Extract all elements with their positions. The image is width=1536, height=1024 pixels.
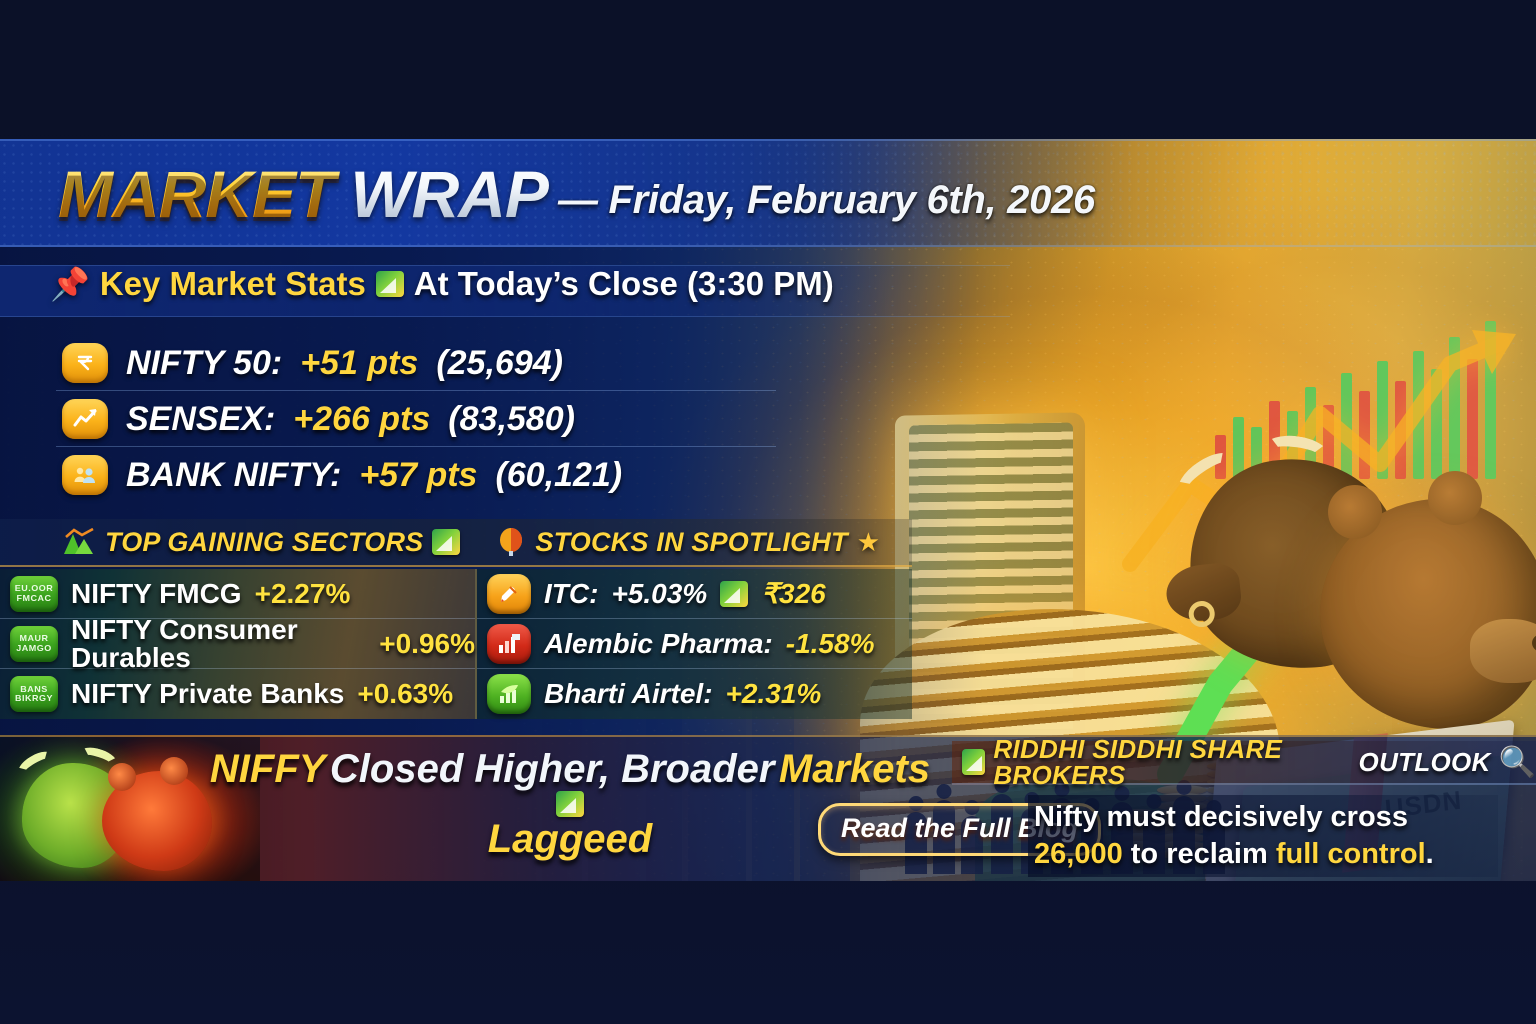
headline-markets: Markets bbox=[779, 747, 930, 791]
sector-change: +0.96% bbox=[379, 630, 475, 658]
outlook-emphasis: full control bbox=[1276, 838, 1426, 870]
balloon-icon bbox=[496, 527, 526, 557]
stat-name: NIFTY 50: bbox=[126, 346, 282, 380]
stat-name: BANK NIFTY: bbox=[126, 458, 341, 492]
stock-change: +2.31% bbox=[726, 680, 822, 708]
headline-niffy: NIFFY bbox=[210, 747, 326, 791]
badge-line-2: JAMGO bbox=[16, 644, 52, 653]
stat-change: +57 pts bbox=[359, 458, 477, 492]
stat-row[interactable]: BANK NIFTY: +57 pts (60,121) bbox=[56, 447, 776, 503]
top-gaining-sectors-header: TOP GAINING SECTORS bbox=[62, 528, 460, 556]
sector-badge-icon: EU.OOR FMCAC bbox=[10, 576, 58, 612]
mountain-chart-icon bbox=[62, 528, 96, 556]
sector-name: NIFTY FMCG bbox=[71, 580, 242, 608]
stat-row[interactable]: NIFTY 50: +51 pts (25,694) bbox=[56, 335, 776, 391]
outlook-brand: RIDDHI SIDDHI SHARE BROKERS bbox=[993, 736, 1350, 788]
stock-name: ITC: bbox=[544, 580, 598, 608]
badge-line-2: FMCAC bbox=[17, 594, 52, 603]
subtitle-close-time: At Today’s Close (3:30 PM) bbox=[414, 267, 834, 300]
title-wrap: WRAP bbox=[350, 161, 558, 227]
bottom-banner: NIFFY Closed Higher, Broader Markets Lag… bbox=[0, 735, 1536, 881]
sector-change: +2.27% bbox=[255, 580, 351, 608]
subtitle-row: 📌 Key Market Stats At Today’s Close (3:3… bbox=[50, 267, 834, 300]
chart-increasing-icon bbox=[962, 749, 985, 775]
stat-row[interactable]: SENSEX: +266 pts (83,580) bbox=[56, 391, 776, 447]
outlook-text-c: to reclaim bbox=[1123, 838, 1276, 870]
line-chart-icon bbox=[62, 399, 108, 439]
stocks-spotlight-header: STOCKS IN SPOTLIGHT ★ bbox=[496, 527, 880, 558]
bar-chart-icon bbox=[487, 624, 531, 664]
sector-row[interactable]: BANS BIKRGY NIFTY Private Banks +0.63% bbox=[0, 669, 475, 719]
headline-laggeed: Laggeed bbox=[488, 817, 652, 861]
pushpin-icon: 📌 bbox=[50, 268, 90, 300]
panel-headers: TOP GAINING SECTORS STOCKS IN SPOTLIGHT … bbox=[0, 519, 912, 567]
outlook-label: OUTLOOK bbox=[1359, 749, 1491, 775]
stat-value: (25,694) bbox=[436, 346, 563, 380]
magnifying-glass-icon: 🔍 bbox=[1499, 745, 1536, 780]
badge-line-2: BIKRGY bbox=[15, 694, 53, 703]
market-wrap-banner: USDN MARKET WRAP — Friday, F bbox=[0, 139, 1536, 881]
stat-value: (83,580) bbox=[448, 402, 575, 436]
bank-people-icon bbox=[62, 455, 108, 495]
panel-body: EU.OOR FMCAC NIFTY FMCG +2.27% MAUR JAMG… bbox=[0, 569, 912, 719]
sector-name: NIFTY Consumer Durables bbox=[71, 616, 366, 672]
stock-price: ₹326 bbox=[761, 580, 826, 608]
chart-increasing-icon bbox=[376, 271, 404, 297]
outlook-text-e: . bbox=[1426, 838, 1434, 870]
sector-badge-icon: MAUR JAMGO bbox=[10, 626, 58, 662]
star-icon: ★ bbox=[857, 527, 880, 558]
sector-row[interactable]: EU.OOR FMCAC NIFTY FMCG +2.27% bbox=[0, 569, 475, 619]
stock-change: +5.03% bbox=[611, 580, 707, 608]
stocks-column: ITC: +5.03% ₹326 bbox=[477, 569, 912, 719]
badge-line-1: MAUR bbox=[20, 634, 49, 643]
outlook-target-level: 26,000 bbox=[1034, 838, 1123, 870]
sector-name: NIFTY Private Banks bbox=[71, 680, 344, 708]
outlook-text: Nifty must decisively cross 26,000 to re… bbox=[1028, 795, 1498, 877]
sector-badge-icon: BANS BIKRGY bbox=[10, 676, 58, 712]
rupee-coin-icon bbox=[62, 343, 108, 383]
chart-increasing-icon bbox=[432, 529, 460, 555]
stock-row[interactable]: ITC: +5.03% ₹326 bbox=[477, 569, 912, 619]
sector-change: +0.63% bbox=[357, 680, 453, 708]
page-title: MARKET WRAP — Friday, February 6th, 2026 bbox=[58, 161, 1095, 227]
chart-increasing-icon bbox=[556, 791, 584, 817]
headline-middle: Closed Higher, Broader bbox=[330, 747, 775, 791]
spotlight-header-label: STOCKS IN SPOTLIGHT bbox=[535, 529, 847, 556]
stock-name: Alembic Pharma: bbox=[544, 630, 773, 658]
outlook-text-a: Nifty must decisively cross bbox=[1034, 801, 1408, 833]
stat-change: +51 pts bbox=[300, 346, 418, 380]
stock-row[interactable]: Alembic Pharma: -1.58% bbox=[477, 619, 912, 669]
stat-name: SENSEX: bbox=[126, 402, 275, 436]
sectors-header-label: TOP GAINING SECTORS bbox=[105, 529, 423, 556]
title-date: — Friday, February 6th, 2026 bbox=[558, 180, 1095, 220]
sectors-and-stocks-panel: TOP GAINING SECTORS STOCKS IN SPOTLIGHT … bbox=[0, 519, 912, 719]
key-stats-list: NIFTY 50: +51 pts (25,694) SENSEX: +266 … bbox=[56, 335, 776, 503]
badge-line-1: EU.OOR bbox=[15, 584, 54, 593]
chart-increasing-icon bbox=[720, 581, 748, 607]
rocket-icon bbox=[487, 574, 531, 614]
leaf-chart-icon bbox=[487, 674, 531, 714]
sectors-column: EU.OOR FMCAC NIFTY FMCG +2.27% MAUR JAMG… bbox=[0, 569, 477, 719]
poster-stage: USDN MARKET WRAP — Friday, F bbox=[0, 0, 1536, 1024]
stat-value: (60,121) bbox=[495, 458, 622, 492]
subtitle-label: Key Market Stats bbox=[100, 267, 366, 300]
sector-row[interactable]: MAUR JAMGO NIFTY Consumer Durables +0.96… bbox=[0, 619, 475, 669]
title-market: MARKET bbox=[58, 161, 350, 227]
stock-row[interactable]: Bharti Airtel: +2.31% bbox=[477, 669, 912, 719]
stat-change: +266 pts bbox=[293, 402, 430, 436]
stock-change: -1.58% bbox=[786, 630, 875, 658]
outlook-header: RIDDHI SIDDHI SHARE BROKERS OUTLOOK 🔍 bbox=[952, 741, 1536, 785]
content-layer: MARKET WRAP — Friday, February 6th, 2026… bbox=[0, 139, 1536, 881]
stock-name: Bharti Airtel: bbox=[544, 680, 713, 708]
